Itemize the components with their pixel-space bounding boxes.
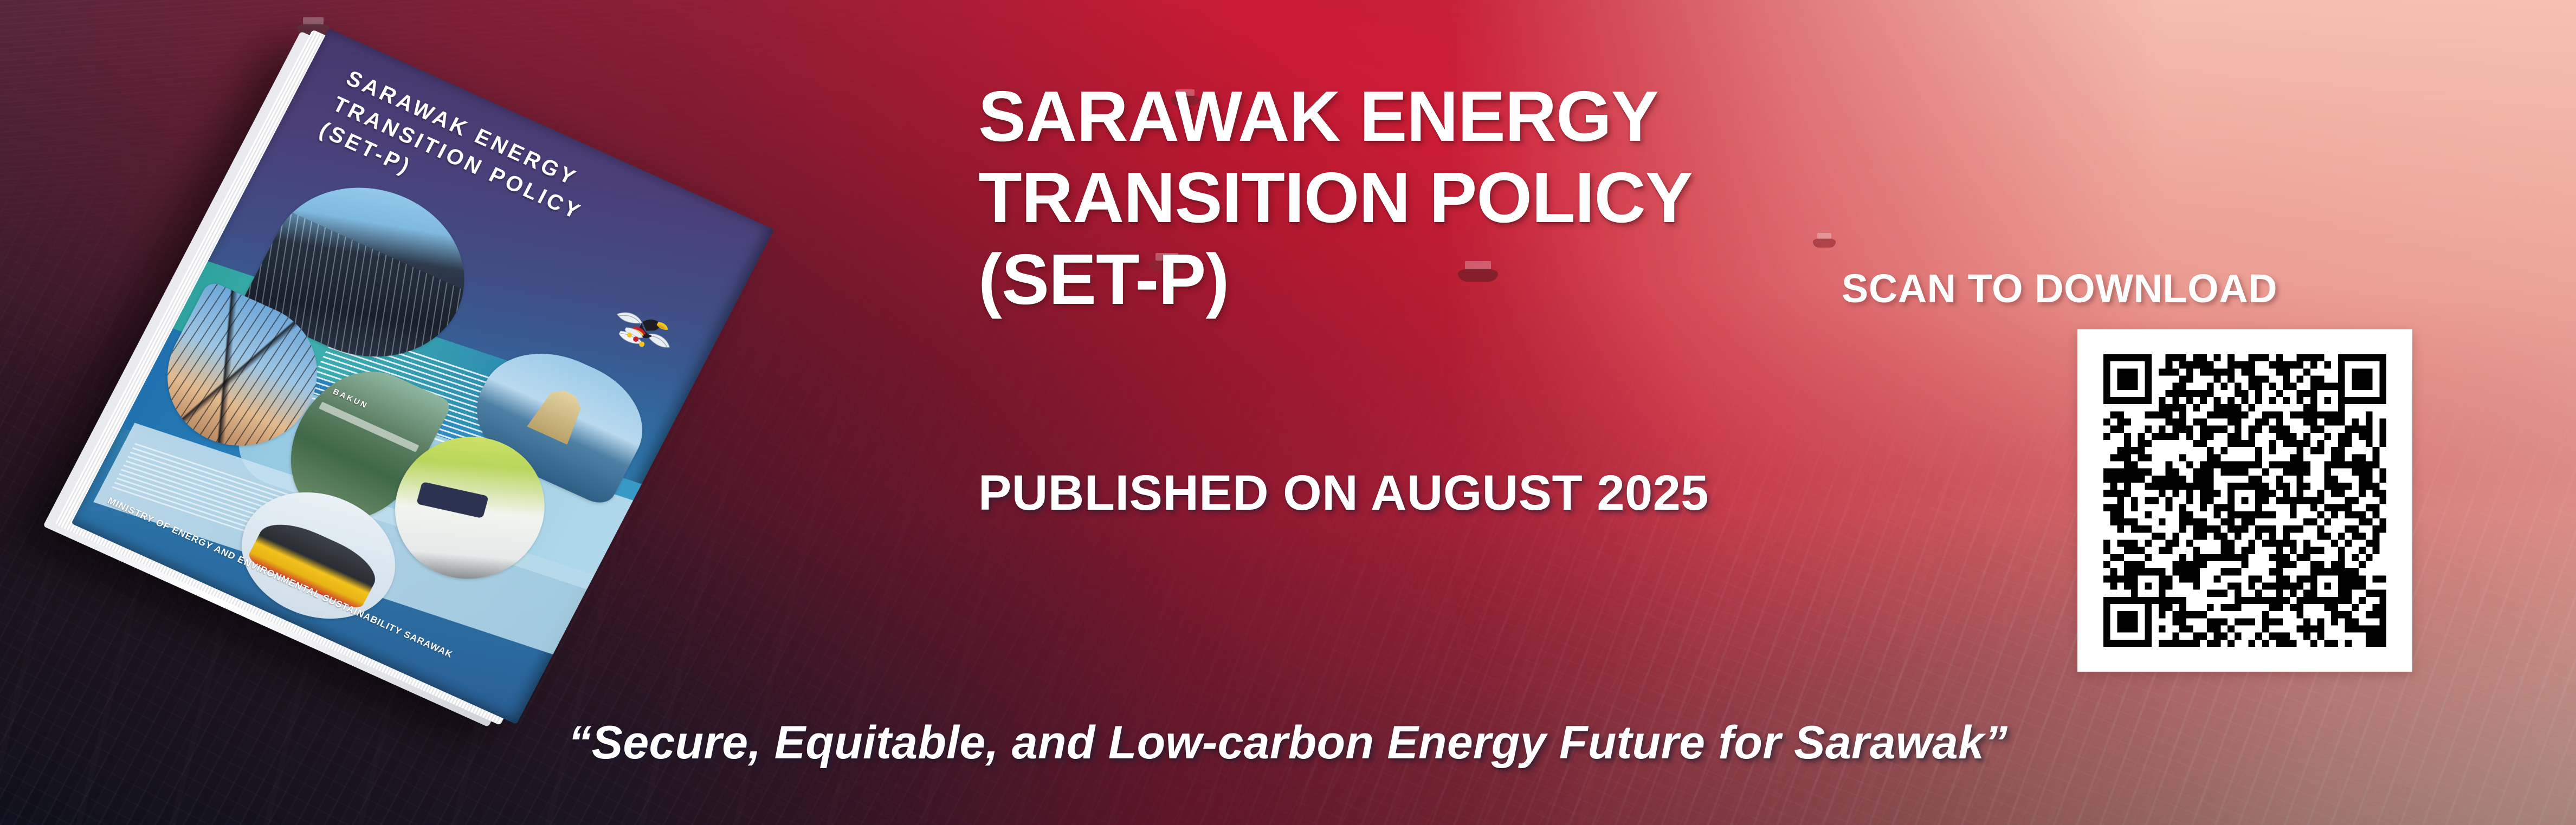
book-front-cover: BAKUN [71,29,774,725]
tagline-quote: “Secure, Equitable, and Low-carbon Energ… [0,716,2576,770]
published-date-label: PUBLISHED ON AUGUST 2025 [978,465,1709,522]
book-mockup: BAKUN [51,65,854,710]
scan-to-download-label: SCAN TO DOWNLOAD [1702,265,2417,311]
qr-code-card[interactable] [2077,329,2412,672]
banner-stage: BAKUN [0,0,2576,825]
page-title-line1: SARAWAK ENERGY TRANSITION POLICY [978,76,2062,239]
bakun-dam-caption: BAKUN [331,387,370,411]
policy-book: BAKUN [71,29,774,725]
qr-code-image[interactable] [2103,354,2386,647]
